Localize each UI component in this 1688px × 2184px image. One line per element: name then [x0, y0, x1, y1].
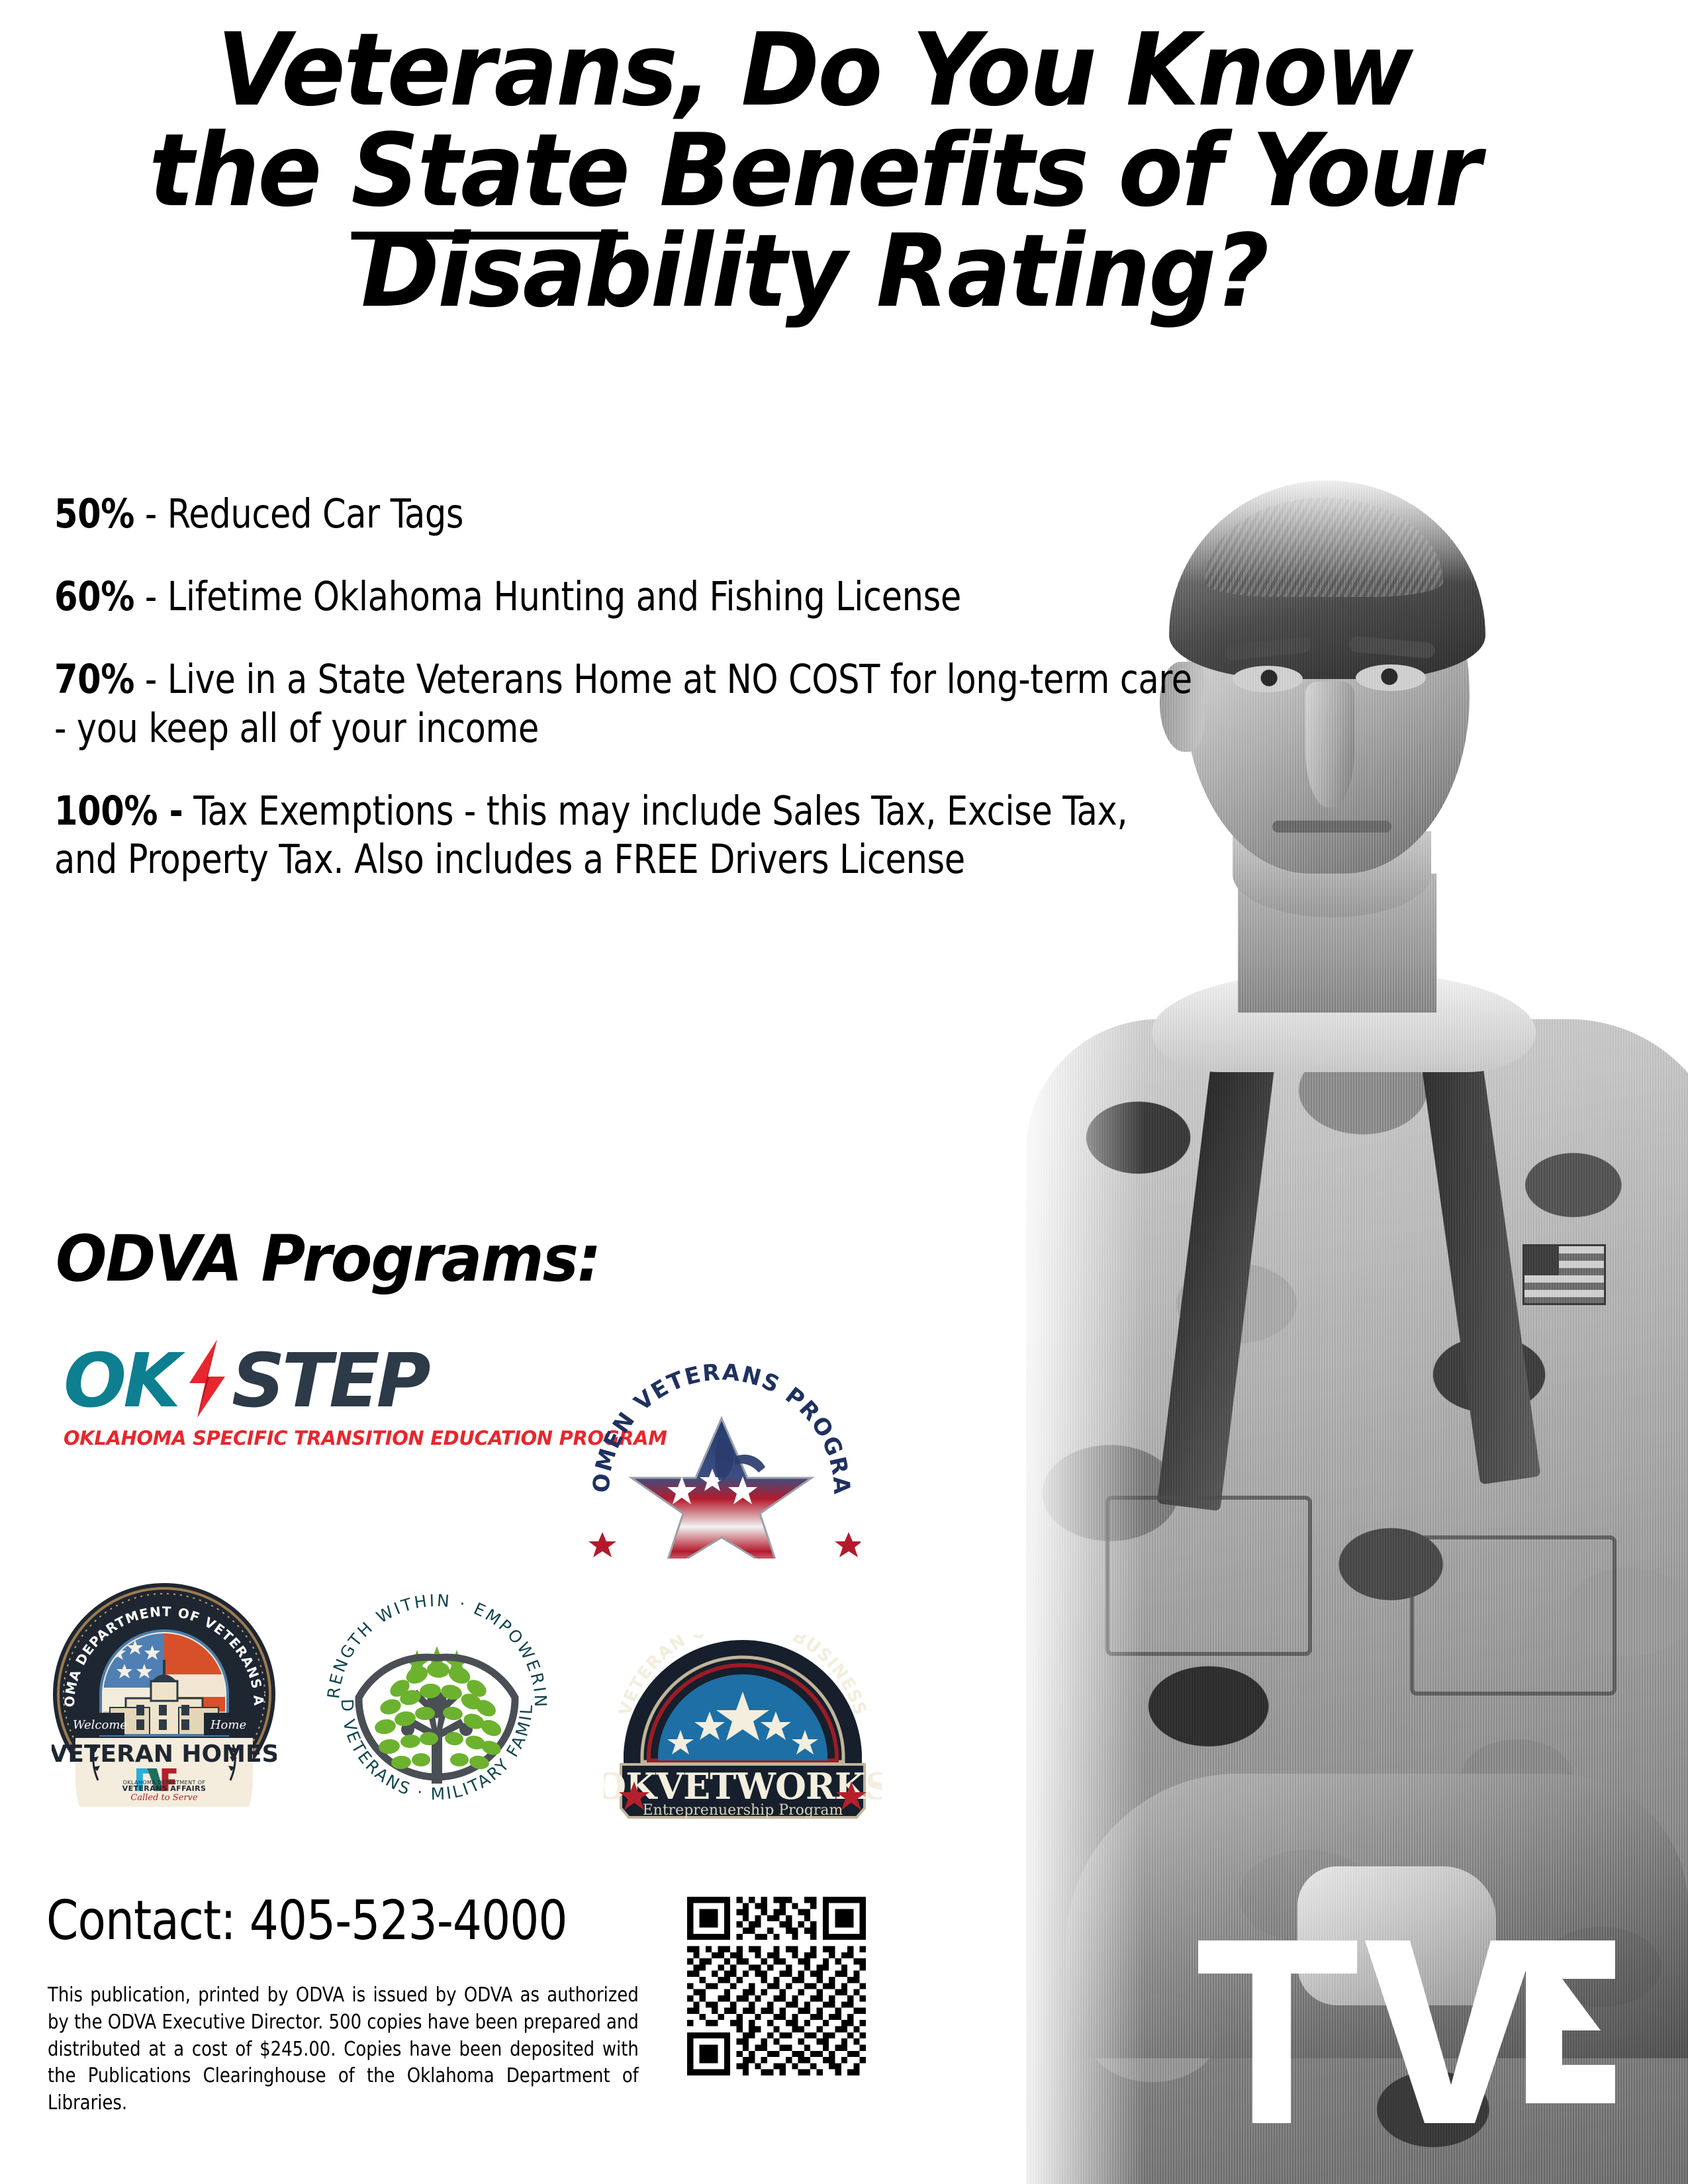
svg-text:Called to Serve: Called to Serve [130, 1793, 198, 1803]
benefit-separator [183, 788, 193, 835]
svg-text:OKVETWORKS: OKVETWORKS [604, 1765, 882, 1807]
benefit-text: Live in a State Veterans Home at NO COST… [54, 656, 1192, 751]
headline-line-1: Veterans, Do You Know [49, 20, 1579, 120]
women-veterans-program-logo: WOMEN VETERANS PROGRAM [583, 1320, 861, 1559]
headline-line-2-pre: the [149, 112, 351, 229]
okstep-tagline: OKLAHOMA SPECIFIC TRANSITION EDUCATION P… [64, 1427, 492, 1449]
lightning-bolt-icon [179, 1340, 230, 1418]
page-title: Veterans, Do You Know the State Benefits… [49, 20, 1579, 322]
benefit-percent: 50% [54, 490, 134, 537]
okstep-logo: OK STEP OKLAHOMA SPECIFIC TRANSITION EDU… [64, 1342, 500, 1449]
svg-text:Welcome: Welcome [73, 1718, 127, 1732]
benefit-percent: 70% [54, 656, 134, 703]
benefit-text: Tax Exemptions - this may include Sales … [54, 788, 1127, 883]
benefit-separator: - [134, 490, 167, 537]
benefit-separator: - [134, 656, 167, 703]
odva-logo-watermark [1192, 1933, 1615, 2131]
benefit-item: 70% - Live in a State Veterans Home at N… [54, 655, 1199, 752]
svg-text:VETERANS AFFAIRS: VETERANS AFFAIRS [122, 1784, 207, 1793]
headline-line-2-post: Benefits of Your [628, 112, 1479, 229]
okvetworks-logo: VETERAN OWNED - BUSINESS OKVETWORKS Entr… [604, 1635, 882, 1833]
benefit-percent: 100% - [54, 788, 183, 835]
okstep-ok-text: OK [64, 1344, 177, 1418]
svg-text:Home: Home [210, 1718, 246, 1732]
publication-disclaimer: This publication, printed by ODVA is iss… [48, 1982, 639, 2117]
benefits-list: 50% - Reduced Car Tags 60% - Lifetime Ok… [54, 490, 1286, 918]
svg-text:Entreprenuership Program: Entreprenuership Program [643, 1802, 843, 1819]
flag-patch-icon [1523, 1244, 1606, 1305]
mouth [1272, 821, 1391, 833]
qr-code[interactable] [687, 1897, 866, 2075]
benefit-text: Lifetime Oklahoma Hunting and Fishing Li… [167, 573, 961, 620]
benefit-percent: 60% [54, 573, 134, 620]
programs-heading: ODVA Programs: [56, 1222, 600, 1296]
svg-text:VETERAN HOMES: VETERAN HOMES [52, 1741, 277, 1768]
strength-within-logo: STRENGTH WITHIN · EMPOWERING AND VETERAN… [311, 1572, 563, 1823]
benefit-item: 60% - Lifetime Oklahoma Hunting and Fish… [54, 572, 1199, 621]
headline-line-2: the State Benefits of Your [49, 120, 1579, 221]
benefit-item: 100% - Tax Exemptions - this may include… [54, 787, 1199, 884]
uniform-pocket-right [1410, 1535, 1617, 1696]
benefit-text: Reduced Car Tags [167, 490, 463, 537]
contact-line[interactable]: Contact: 405-523-4000 [46, 1889, 567, 1952]
nose [1305, 682, 1354, 807]
eye-right [1356, 664, 1426, 691]
benefit-separator: - [134, 573, 167, 620]
veteran-homes-seal: OKLAHOMA DEPARTMENT OF VETERANS AFFAIRS [52, 1582, 277, 1807]
benefit-item: 50% - Reduced Car Tags [54, 490, 1199, 538]
okstep-wordmark: OK STEP [64, 1342, 500, 1420]
headline-line-3: Disability Rating? [49, 221, 1579, 322]
okstep-step-text: STEP [232, 1344, 428, 1418]
